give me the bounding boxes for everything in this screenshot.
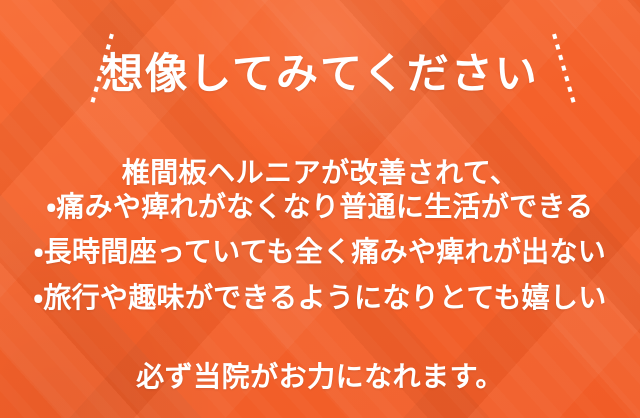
banner-content: 想像してみてください 椎間板ヘルニアが改善されて、 ・痛みや痺れがなくなり普通に… <box>0 0 640 418</box>
bullet-dot-icon: ・ <box>33 281 43 314</box>
closing-statement: 必ず当院がお力になれます。 <box>0 360 640 394</box>
list-item: ・痛みや痺れがなくなり普通に生活ができる <box>0 184 640 229</box>
page-title: 想像してみてください <box>101 53 538 95</box>
list-item: ・旅行や趣味ができるようになりとても嬉しい <box>0 275 640 320</box>
bullet-dot-icon: ・ <box>34 235 44 268</box>
promo-banner: 想像してみてください 椎間板ヘルニアが改善されて、 ・痛みや痺れがなくなり普通に… <box>0 0 640 418</box>
list-item-label: 痛みや痺れがなくなり普通に生活ができる <box>56 190 593 223</box>
list-item: ・長時間座っていても全く痛みや痺れが出ない <box>0 229 640 274</box>
headline-row: 想像してみてください <box>0 34 640 114</box>
bullet-dot-icon: ・ <box>47 190 57 223</box>
list-item-label: 長時間座っていても全く痛みや痺れが出ない <box>44 235 606 268</box>
benefit-list: ・痛みや痺れがなくなり普通に生活ができる ・長時間座っていても全く痛みや痺れが出… <box>0 184 640 320</box>
list-item-label: 旅行や趣味ができるようになりとても嬉しい <box>43 281 606 314</box>
